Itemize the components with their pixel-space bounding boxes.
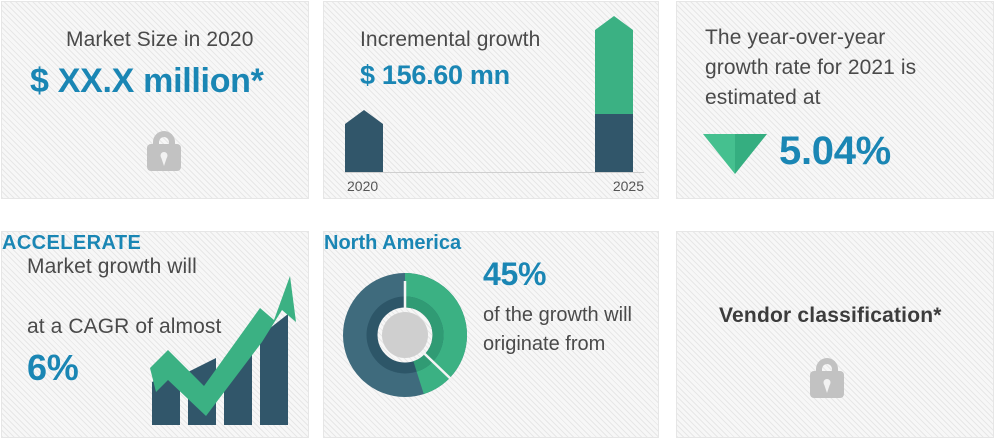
card-incremental-growth: Incremental growth $ 156.60 mn 2020 2025 [323,1,659,199]
bar-2025-cap [595,16,633,30]
card-market-size: Market Size in 2020 $ XX.X million* [1,1,309,199]
lock-icon [810,358,844,400]
card-cell-cagr: Market growth will ACCELERATE at a CAGR … [0,205,316,441]
triangle-right-face [735,134,767,174]
bar-2020-cap [345,110,383,124]
incremental-growth-value: $ 156.60 mn [360,60,510,91]
card-region-share: 45% of the growth will originate from No… [323,231,659,438]
card-cell-region-share: 45% of the growth will originate from No… [316,205,668,441]
bar-chart-baseline [345,172,644,173]
market-size-title: Market Size in 2020 [66,25,254,55]
bar-2025-dark-segment [595,114,633,172]
card-cell-incremental-growth: Incremental growth $ 156.60 mn 2020 2025 [316,0,668,205]
region-share-value: 45% [483,256,546,293]
card-cell-yoy-growth: The year-over-year growth rate for 2021 … [668,0,1000,205]
bar-2020-body [345,124,383,172]
yoy-growth-value: 5.04% [779,129,891,174]
vendor-classification-title: Vendor classification* [719,304,942,328]
incremental-growth-title: Incremental growth [360,25,540,55]
growth-arrow-bars-icon [150,270,298,425]
bar-tick-2020: 2020 [347,178,378,194]
bar-2025-green-segment [595,30,633,114]
lock-icon [147,131,181,173]
yoy-growth-title: The year-over-year growth rate for 2021 … [705,23,916,113]
lock-keyslot [161,157,167,166]
donut-center-hub [382,312,428,358]
region-share-donut-chart [343,273,467,397]
bar-2025 [595,16,633,172]
bar-tick-2025: 2025 [613,178,644,194]
region-share-text: of the growth will originate from [483,301,632,359]
card-cell-market-size: Market Size in 2020 $ XX.X million* [0,0,316,205]
market-size-value: $ XX.X million* [30,62,264,101]
bar-2020 [345,110,383,172]
card-cagr: Market growth will ACCELERATE at a CAGR … [1,231,309,438]
infographic-board: Market Size in 2020 $ XX.X million* Incr… [0,0,1000,441]
cagr-value: 6% [27,347,78,389]
region-share-region-label: North America [324,232,658,255]
card-cell-vendor-classification: Vendor classification* [668,205,1000,441]
triangle-left-face [703,134,735,174]
lock-keyslot [824,384,830,393]
card-vendor-classification: Vendor classification* [676,231,994,438]
up-triangle-icon [703,134,767,174]
card-yoy-growth: The year-over-year growth rate for 2021 … [676,1,994,199]
